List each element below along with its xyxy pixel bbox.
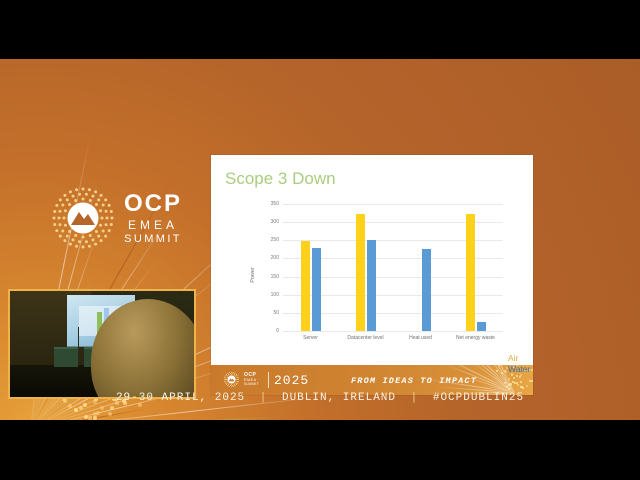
chart-bar bbox=[466, 214, 475, 331]
slide-footer-dot bbox=[504, 370, 506, 372]
footer-separator-2: | bbox=[411, 392, 419, 404]
event-footer-strip: 29-30 APRIL, 2025 | DUBLIN, IRELAND | #O… bbox=[0, 376, 640, 420]
chart-bar-group: Datacenter level bbox=[338, 204, 393, 331]
letterbox-bottom bbox=[0, 420, 640, 480]
chart-plot-area: 050100150200250300350 ServerDatacenter l… bbox=[283, 204, 503, 332]
slide-title: Scope 3 Down bbox=[225, 169, 336, 189]
chart-bar bbox=[422, 249, 431, 331]
slide-footer-dot bbox=[496, 370, 498, 372]
ocp-emea-summit-logo: OCP EMEA SUMMIT bbox=[52, 181, 192, 255]
chart-bar-group: Server bbox=[283, 204, 338, 331]
presentation-slide: Scope 3 Down Power 050100150200250300350… bbox=[211, 155, 533, 395]
chart-bar bbox=[356, 214, 365, 331]
chart-y-tick-label: 350 bbox=[271, 201, 279, 207]
slide-footer-dot bbox=[498, 365, 500, 366]
chart-bar bbox=[367, 240, 376, 331]
chart-y-tick-label: 0 bbox=[276, 328, 279, 334]
footer-dates: 29-30 APRIL, 2025 bbox=[116, 392, 245, 404]
letterbox-top bbox=[0, 0, 640, 59]
chart-y-tick-label: 150 bbox=[271, 274, 279, 280]
footer-separator-1: | bbox=[260, 392, 268, 404]
chart-x-tick-label: Server bbox=[303, 335, 318, 341]
chart-y-axis-label: Power bbox=[250, 267, 256, 283]
footer-location: DUBLIN, IRELAND bbox=[282, 392, 396, 404]
mic-stand bbox=[78, 327, 79, 369]
slide-footer-dot bbox=[505, 371, 507, 373]
logo-emea-text: EMEA bbox=[128, 219, 178, 231]
ocp-sunburst-mountain-icon bbox=[52, 187, 114, 249]
legend-item: Water + Heat re-use bbox=[508, 364, 533, 375]
chart-x-tick-label: Datacenter level bbox=[347, 335, 383, 341]
chart-y-tick-label: 50 bbox=[273, 310, 279, 316]
chart-y-tick-label: 300 bbox=[271, 219, 279, 225]
chart-gridline bbox=[283, 331, 503, 332]
chart-bar bbox=[312, 248, 321, 331]
chart-x-tick-label: Heat used bbox=[409, 335, 432, 341]
ocp-logo-wordmark: OCP EMEA SUMMIT bbox=[124, 192, 182, 245]
event-backdrop: OCP EMEA SUMMIT Scope 3 Down bbox=[0, 59, 640, 420]
chart-x-tick-label: Net energy waste bbox=[456, 335, 495, 341]
chart-bar bbox=[301, 241, 310, 331]
chart-y-tick-label: 250 bbox=[271, 237, 279, 243]
logo-summit-text: SUMMIT bbox=[124, 234, 182, 245]
stage-chair-left bbox=[54, 347, 78, 367]
legend-item: Air bbox=[508, 353, 533, 364]
video-stage: OCP EMEA SUMMIT Scope 3 Down bbox=[0, 0, 640, 480]
slide-footer-dot bbox=[501, 372, 503, 374]
footer-hashtag: #OCPDUBLIN25 bbox=[433, 392, 524, 404]
chart-y-tick-label: 100 bbox=[271, 292, 279, 298]
chart-y-tick-label: 200 bbox=[271, 255, 279, 261]
event-footer-text: 29-30 APRIL, 2025 | DUBLIN, IRELAND | #O… bbox=[116, 392, 524, 404]
chart-legend: AirWater + Heat re-use bbox=[508, 353, 533, 376]
chart-bar-group: Heat used bbox=[393, 204, 448, 331]
power-bar-chart: Power 050100150200250300350 ServerDatace… bbox=[255, 200, 503, 350]
chart-bar bbox=[477, 322, 486, 331]
logo-ocp-text: OCP bbox=[124, 192, 182, 216]
chart-bar-group: Net energy waste bbox=[448, 204, 503, 331]
